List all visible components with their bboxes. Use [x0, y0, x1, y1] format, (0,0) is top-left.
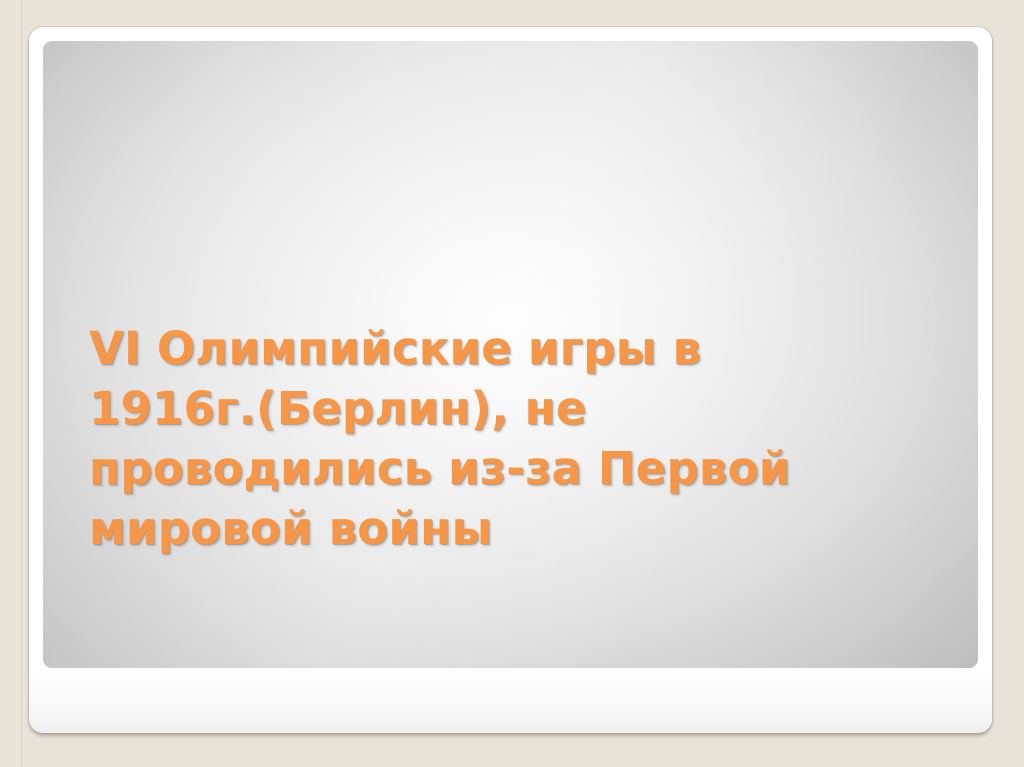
- slide-title: VI Олимпийские игры в 1916г.(Берлин), не…: [89, 319, 929, 559]
- slide-title-line-3: проводились из-за Первой: [89, 439, 929, 499]
- slide-card: VI Олимпийские игры в 1916г.(Берлин), не…: [29, 27, 992, 733]
- presentation-backdrop: VI Олимпийские игры в 1916г.(Берлин), не…: [0, 0, 1024, 767]
- slide-title-line-2: 1916г.(Берлин), не: [89, 379, 929, 439]
- slide-content-panel: VI Олимпийские игры в 1916г.(Берлин), не…: [43, 41, 978, 668]
- slide-title-line-1: VI Олимпийские игры в: [89, 319, 929, 379]
- slide-title-line-4: мировой войны: [89, 499, 929, 559]
